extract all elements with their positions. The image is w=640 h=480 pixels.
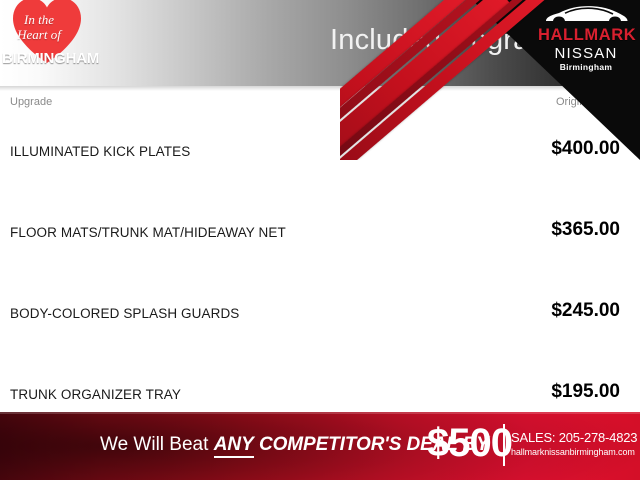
- birmingham-label: BIRMINGHAM: [2, 50, 94, 67]
- promo-amount: $500: [427, 421, 512, 465]
- upgrade-price: $245.00: [551, 300, 620, 322]
- upgrade-name: ILLUMINATED KICK PLATES: [10, 144, 190, 159]
- logo-city-text: Birmingham: [538, 63, 634, 72]
- promo-headline-any: ANY: [214, 434, 254, 458]
- upgrade-price: $195.00: [551, 381, 620, 403]
- car-silhouette-icon: [543, 4, 629, 26]
- website-url[interactable]: hallmarknissanbirmingham.com: [511, 447, 637, 457]
- table-row: BODY-COLORED SPLASH GUARDS $245.00: [0, 294, 640, 375]
- heart-badge-text: In the Heart of: [0, 12, 78, 42]
- sales-phone[interactable]: SALES: 205-278-4823: [511, 430, 637, 445]
- upgrade-price: $365.00: [551, 219, 620, 241]
- upgrade-name: TRUNK ORGANIZER TRAY: [10, 387, 181, 402]
- upgrade-name: BODY-COLORED SPLASH GUARDS: [10, 306, 239, 321]
- heart-line-2: Heart of: [17, 27, 61, 42]
- logo-make-text: NISSAN: [538, 46, 634, 61]
- banner-divider: [503, 424, 505, 466]
- upgrade-name: FLOOR MATS/TRUNK MAT/HIDEAWAY NET: [10, 225, 286, 240]
- heart-line-1: In the: [24, 12, 54, 27]
- upgrades-table: ILLUMINATED KICK PLATES $400.00 FLOOR MA…: [0, 132, 640, 456]
- banner-top-edge: [0, 412, 640, 414]
- promo-banner: We Will Beat ANY COMPETITOR'S DEAL BY $5…: [0, 412, 640, 480]
- logo-brand-text: HALLMARK: [538, 27, 634, 44]
- column-header-upgrade: Upgrade: [10, 96, 52, 108]
- promo-headline-prefix: We Will Beat: [100, 434, 214, 455]
- dealer-logo: HALLMARK NISSAN Birmingham: [538, 4, 634, 71]
- upgrades-slide: Included Upgrades HALLMARK NISSAN Birmin…: [0, 0, 640, 480]
- table-row: FLOOR MATS/TRUNK MAT/HIDEAWAY NET $365.0…: [0, 213, 640, 294]
- contact-block: SALES: 205-278-4823 hallmarknissanbirmin…: [511, 430, 637, 457]
